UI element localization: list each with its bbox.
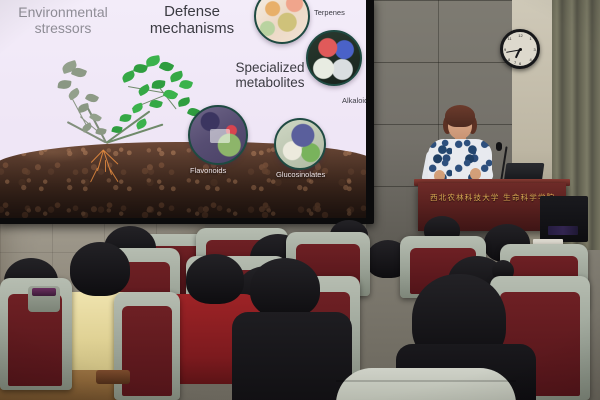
glucosinolates-circle [274,118,326,170]
specialized-line-2: metabolites [216,75,324,90]
audience-pale-puffer [336,368,516,400]
armrest-wood [96,370,130,384]
slide-heading-specialized: Specialized metabolites [216,60,324,90]
audience-member-head [186,254,244,304]
lecture-hall-photo: 12 1 3 4 6 7 8 9 11 [0,0,600,400]
projection-screen: Environmental stressors Defense mechanis… [0,0,366,218]
clock-tick-1: 1 [530,37,532,41]
label-glucosinolates: Glucosinolates [276,170,325,179]
label-terpenes: Terpenes [314,8,345,17]
projection-screen-bezel: Environmental stressors Defense mechanis… [0,0,374,224]
audience-member-head [70,242,130,296]
clock-tick-3: 3 [534,48,536,52]
slide-heading-defense: Defense mechanisms [138,4,246,38]
clock-tick-12: 12 [518,34,522,38]
clock-tick-7: 7 [514,61,516,65]
armrest-pad [32,288,56,296]
label-alkaloids: Alkaloids [342,96,366,105]
wall-clock: 12 1 3 4 6 7 8 9 11 [500,29,540,69]
root-strand [105,160,106,172]
stressors-line-1: Environmental [4,5,122,21]
flavonoids-circle [188,105,248,165]
microphone-icon [496,142,502,151]
clock-tick-4: 4 [530,58,532,62]
audience-dark-top [232,312,352,400]
defense-line-2: mechanisms [138,21,246,38]
audience-member-head [250,258,320,318]
defense-line-1: Defense [138,4,246,21]
clock-tick-6: 6 [519,62,521,66]
clock-center-pin [519,48,522,51]
clock-tick-11: 11 [508,37,512,41]
audience-seating-area [0,218,600,400]
specialized-line-1: Specialized [216,60,324,75]
clock-tick-8: 8 [508,58,510,62]
speaker-hair [445,105,475,127]
stressors-line-2: stressors [4,21,122,37]
slide-heading-stressors: Environmental stressors [4,5,122,36]
label-flavonoids: Flavonoids [190,166,226,175]
puffer-seam [336,380,516,382]
podium-institution-text: 西北农林科技大学 生命科学学院 [430,192,554,203]
